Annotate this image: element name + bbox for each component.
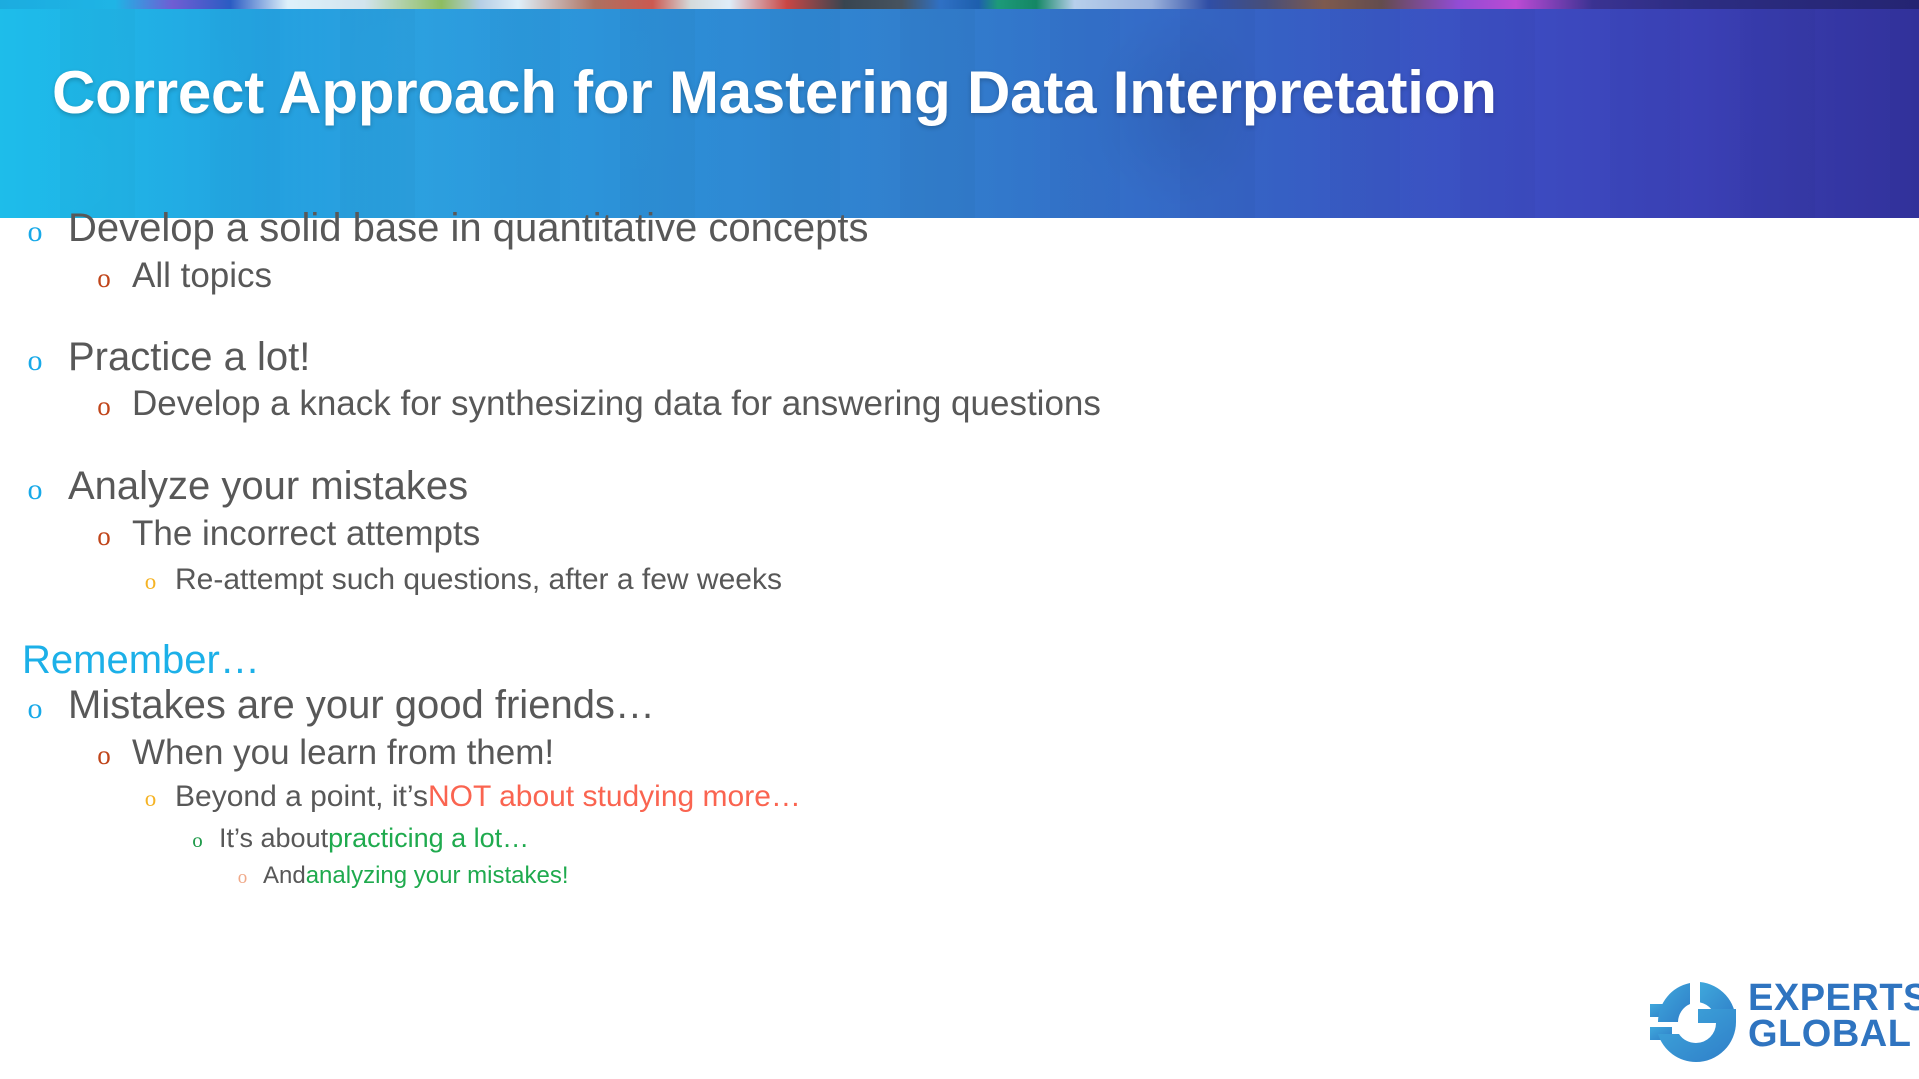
banner-top-color-strip: [0, 0, 1919, 9]
bullet-text-prefix: And: [263, 862, 306, 890]
brand-logo: EXPERTS’ GLOBAL: [1648, 972, 1908, 1072]
bullet-marker-level4: o: [188, 830, 207, 851]
bullet-text: Develop a solid base in quantitative con…: [68, 206, 869, 251]
bullet-item-level4: o It’s about practicing a lot…: [188, 823, 529, 854]
bullet-item-level1: o Develop a solid base in quantitative c…: [22, 206, 869, 251]
bullet-marker-level2: o: [92, 523, 116, 550]
logo-line-1: EXPERTS’: [1748, 980, 1919, 1016]
bullet-text: When you learn from them!: [132, 733, 554, 773]
bullet-text: The incorrect attempts: [132, 514, 480, 554]
experts-global-g-icon: [1648, 978, 1740, 1066]
bullet-item-level2: o The incorrect attempts: [92, 514, 480, 554]
bullet-item-level1: o Mistakes are your good friends…: [22, 683, 655, 728]
bullet-marker-level5: o: [234, 868, 251, 887]
slide-title: Correct Approach for Mastering Data Inte…: [52, 58, 1497, 127]
bullet-item-level2: o All topics: [92, 256, 272, 296]
bullet-text: All topics: [132, 256, 272, 296]
bullet-text-highlight: NOT about studying more…: [428, 780, 801, 814]
bullet-item-level1: o Practice a lot!: [22, 335, 310, 380]
bullet-marker-level1: o: [22, 346, 48, 376]
bullet-marker-level2: o: [92, 393, 116, 420]
bullet-text-highlight: analyzing your mistakes!: [306, 862, 569, 890]
bullet-text: Analyze your mistakes: [68, 464, 468, 509]
slide-header-banner: Correct Approach for Mastering Data Inte…: [0, 0, 1919, 218]
bullet-marker-level2: o: [92, 742, 116, 769]
bullet-text-highlight: practicing a lot…: [328, 823, 529, 854]
bullet-marker-level3: o: [140, 787, 161, 810]
bullet-text: Develop a knack for synthesizing data fo…: [132, 384, 1101, 424]
bullet-item-level1: o Analyze your mistakes: [22, 464, 468, 509]
bullet-item-level2: o Develop a knack for synthesizing data …: [92, 384, 1101, 424]
bullet-text: Re-attempt such questions, after a few w…: [175, 563, 782, 597]
bullet-text: Practice a lot!: [68, 335, 310, 380]
remember-heading: Remember…: [22, 638, 260, 683]
bullet-marker-level1: o: [22, 475, 48, 505]
bullet-item-level2: o When you learn from them!: [92, 733, 554, 773]
bullet-marker-level3: o: [140, 570, 161, 593]
bullet-marker-level1: o: [22, 694, 48, 724]
slide-body: o Develop a solid base in quantitative c…: [0, 218, 1919, 1079]
bullet-text: Mistakes are your good friends…: [68, 683, 655, 728]
logo-wordmark: EXPERTS’ GLOBAL: [1748, 980, 1919, 1053]
bullet-marker-level1: o: [22, 217, 48, 247]
bullet-item-level5: o And analyzing your mistakes!: [234, 862, 568, 890]
logo-line-2: GLOBAL: [1748, 1016, 1919, 1052]
bullet-text-prefix: Beyond a point, it’s: [175, 780, 428, 814]
bullet-item-level3: o Beyond a point, it’s NOT about studyin…: [140, 780, 801, 814]
bullet-text-prefix: It’s about: [219, 823, 328, 854]
bullet-marker-level2: o: [92, 265, 116, 292]
bullet-item-level3: o Re-attempt such questions, after a few…: [140, 563, 782, 597]
